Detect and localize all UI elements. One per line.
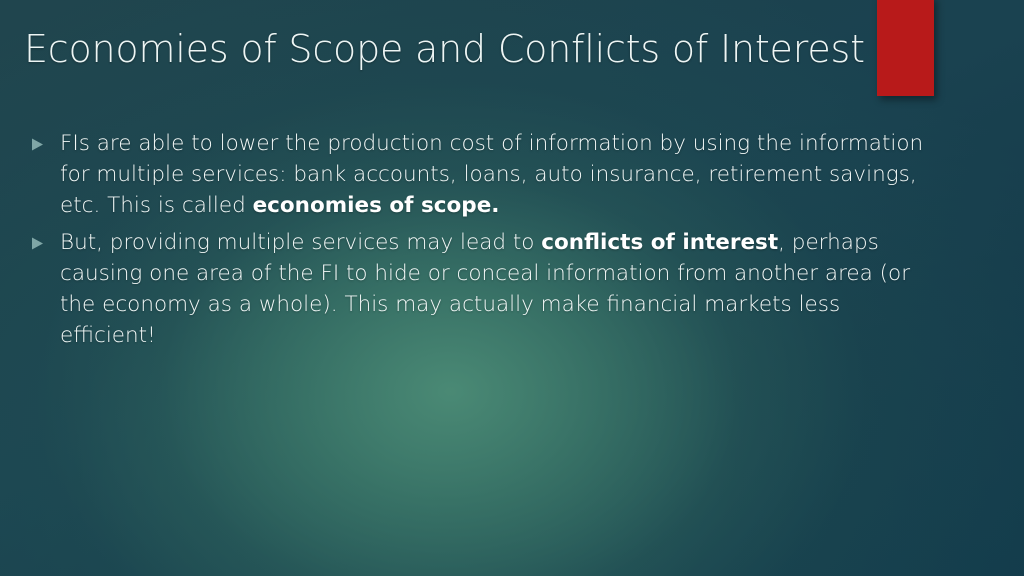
bullet-item-1: FIs are able to lower the production cos…	[30, 128, 940, 221]
bullet-item-2-text: But, providing multiple services may lea…	[60, 227, 940, 351]
triangle-right-icon	[30, 128, 60, 152]
bullet-item-1-text: FIs are able to lower the production cos…	[60, 128, 940, 221]
bullet-2-segment-2-bold: conflicts of interest	[541, 230, 778, 255]
bullet-item-2: But, providing multiple services may lea…	[30, 227, 940, 351]
bullet-2-segment-1: But, providing multiple services may lea…	[60, 230, 541, 255]
presentation-slide: Economies of Scope and Conflicts of Inte…	[0, 0, 1024, 576]
title-block: Economies of Scope and Conflicts of Inte…	[24, 24, 864, 74]
red-accent-bar	[877, 0, 934, 96]
bullet-list: FIs are able to lower the production cos…	[30, 128, 940, 357]
bullet-1-segment-2-bold: economies of scope.	[253, 193, 500, 218]
slide-title: Economies of Scope and Conflicts of Inte…	[24, 24, 864, 74]
triangle-right-icon	[30, 227, 60, 251]
